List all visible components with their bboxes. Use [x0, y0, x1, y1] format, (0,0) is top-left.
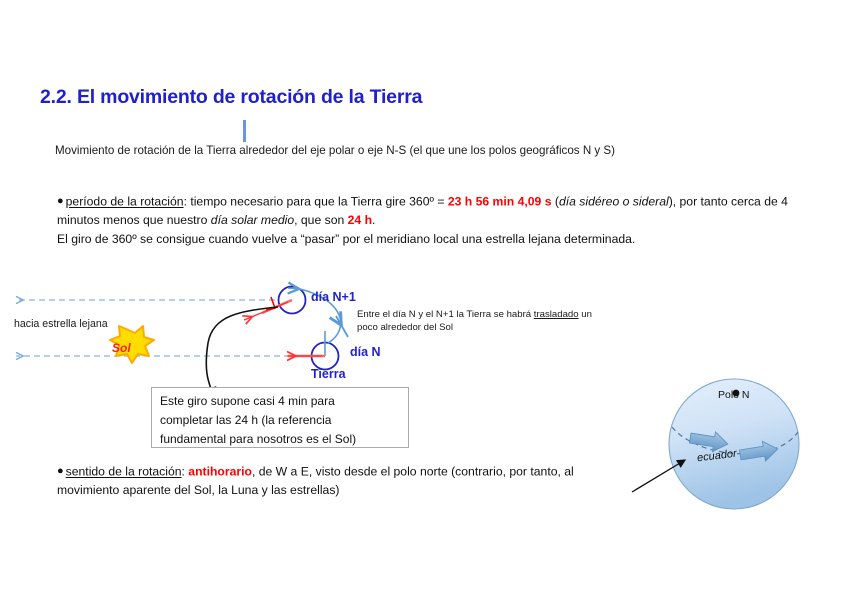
callout-line-3: fundamental para nosotros es el Sol) [160, 430, 400, 449]
bullet-glyph: ● [57, 465, 64, 477]
note-traslacion: Entre el día N y el N+1 la Tierra se hab… [357, 308, 627, 334]
italic-dia-sidereo: día sidéreo o sideral [559, 195, 669, 209]
highlight-24h: 24 h [348, 213, 372, 227]
label-tierra: Tierra [311, 367, 346, 381]
callout-line-1: Este giro supone casi 4 min para [160, 392, 400, 411]
bullet-sentido-term: sentido de la rotación [66, 465, 182, 479]
slide-canvas: 2.2. El movimiento de rotación de la Tie… [0, 0, 848, 599]
callout-line-2: completar las 24 h (la referencia [160, 411, 400, 430]
callout-box-rotacion: Este giro supone casi 4 min para complet… [151, 387, 409, 448]
bullet-sentido-rotacion: ●sentido de la rotación: antihorario, de… [57, 462, 637, 500]
highlight-sidereal-day: 23 h 56 min 4,09 s [448, 195, 552, 209]
bullet-periodo-text-5: . [372, 213, 375, 227]
label-hacia-estrella-lejana: hacia estrella lejana [14, 318, 108, 330]
text-cursor-caret [243, 120, 246, 142]
subtitle-text: Movimiento de rotación de la Tierra alre… [55, 144, 615, 157]
note-traslacion-underlined: trasladado [534, 309, 579, 320]
label-polo-n: Polo N [718, 389, 750, 401]
page-title: 2.2. El movimiento de rotación de la Tie… [40, 86, 422, 109]
italic-dia-solar-medio: día solar medio [211, 213, 294, 227]
bullet-periodo-line-3: El giro de 360º se consigue cuando vuelv… [57, 230, 827, 249]
bullet-periodo-text-1: : tiempo necesario para que la Tierra gi… [184, 195, 448, 209]
bullet-periodo-rotacion: ●período de la rotación: tiempo necesari… [57, 192, 827, 248]
bullet-periodo-text-2: ( [551, 195, 558, 209]
label-dia-n: día N [350, 345, 381, 359]
highlight-antihorario: antihorario [188, 465, 252, 479]
bullet-periodo-term: período de la rotación [66, 195, 184, 209]
label-dia-n-plus-1: día N+1 [311, 290, 356, 304]
label-sol: Sol [112, 341, 131, 355]
bullet-periodo-text-4: , que son [294, 213, 348, 227]
callout-pointer-curve [206, 307, 278, 397]
bullet-glyph: ● [57, 195, 64, 207]
globe-pointer-line [632, 460, 685, 492]
note-traslacion-line1: Entre el día N y el N+1 la Tierra se hab… [357, 309, 534, 320]
note-traslacion-line1-end: un [579, 309, 592, 320]
globe-pointer-svg [630, 452, 710, 498]
note-traslacion-line2: poco alrededor del Sol [357, 321, 627, 334]
